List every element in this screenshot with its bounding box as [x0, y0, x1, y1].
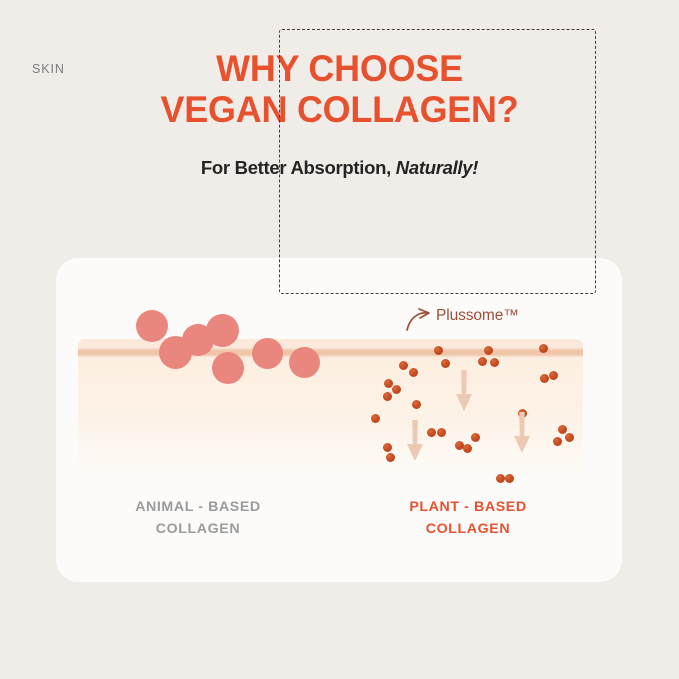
animal-collagen-molecule — [212, 352, 244, 384]
animal-collagen-molecule — [289, 347, 320, 378]
plant-collagen-particle — [490, 358, 499, 367]
animal-collagen-molecule — [206, 314, 239, 347]
plant-collagen-particle — [553, 437, 562, 446]
plant-collagen-particle — [441, 359, 450, 368]
plant-collagen-particle — [386, 453, 395, 462]
curved-arrow-icon — [404, 306, 440, 332]
plant-collagen-particle — [463, 444, 472, 453]
plant-collagen-particle — [478, 357, 487, 366]
caption-animal-line-2: COLLAGEN — [78, 518, 318, 540]
plant-based-highlight-box — [279, 29, 596, 294]
plant-collagen-particle — [484, 346, 493, 355]
plussome-label: Plussome™ — [436, 307, 519, 325]
caption-animal-line-1: ANIMAL - BASED — [78, 496, 318, 518]
skin-cross-section-illustration — [78, 339, 583, 485]
plant-collagen-particle — [505, 474, 514, 483]
plant-collagen-particle — [549, 371, 558, 380]
plant-collagen-particle — [427, 428, 436, 437]
absorption-down-arrow-icon — [454, 370, 474, 412]
plant-collagen-particle — [409, 368, 418, 377]
caption-animal-based-collagen: ANIMAL - BASED COLLAGEN — [78, 496, 318, 540]
plant-collagen-particle — [565, 433, 574, 442]
animal-collagen-molecule — [252, 338, 283, 369]
caption-plant-line-2: COLLAGEN — [348, 518, 588, 540]
caption-plant-based-collagen: PLANT - BASED COLLAGEN — [348, 496, 588, 540]
plant-collagen-particle — [558, 425, 567, 434]
caption-plant-line-1: PLANT - BASED — [348, 496, 588, 518]
skin-label: SKIN — [32, 62, 65, 76]
plant-collagen-particle — [437, 428, 446, 437]
absorption-down-arrow-icon — [405, 420, 425, 462]
plant-collagen-particle — [383, 443, 392, 452]
plant-collagen-particle — [371, 414, 380, 423]
plant-collagen-particle — [412, 400, 421, 409]
plant-collagen-particle — [434, 346, 443, 355]
plant-collagen-particle — [471, 433, 480, 442]
absorption-down-arrow-icon — [512, 412, 532, 454]
plant-collagen-particle — [399, 361, 408, 370]
plant-collagen-particle — [496, 474, 505, 483]
plant-collagen-particle — [539, 344, 548, 353]
plant-collagen-particle — [540, 374, 549, 383]
plant-collagen-particle — [383, 392, 392, 401]
plant-collagen-particle — [392, 385, 401, 394]
animal-collagen-molecule — [136, 310, 168, 342]
